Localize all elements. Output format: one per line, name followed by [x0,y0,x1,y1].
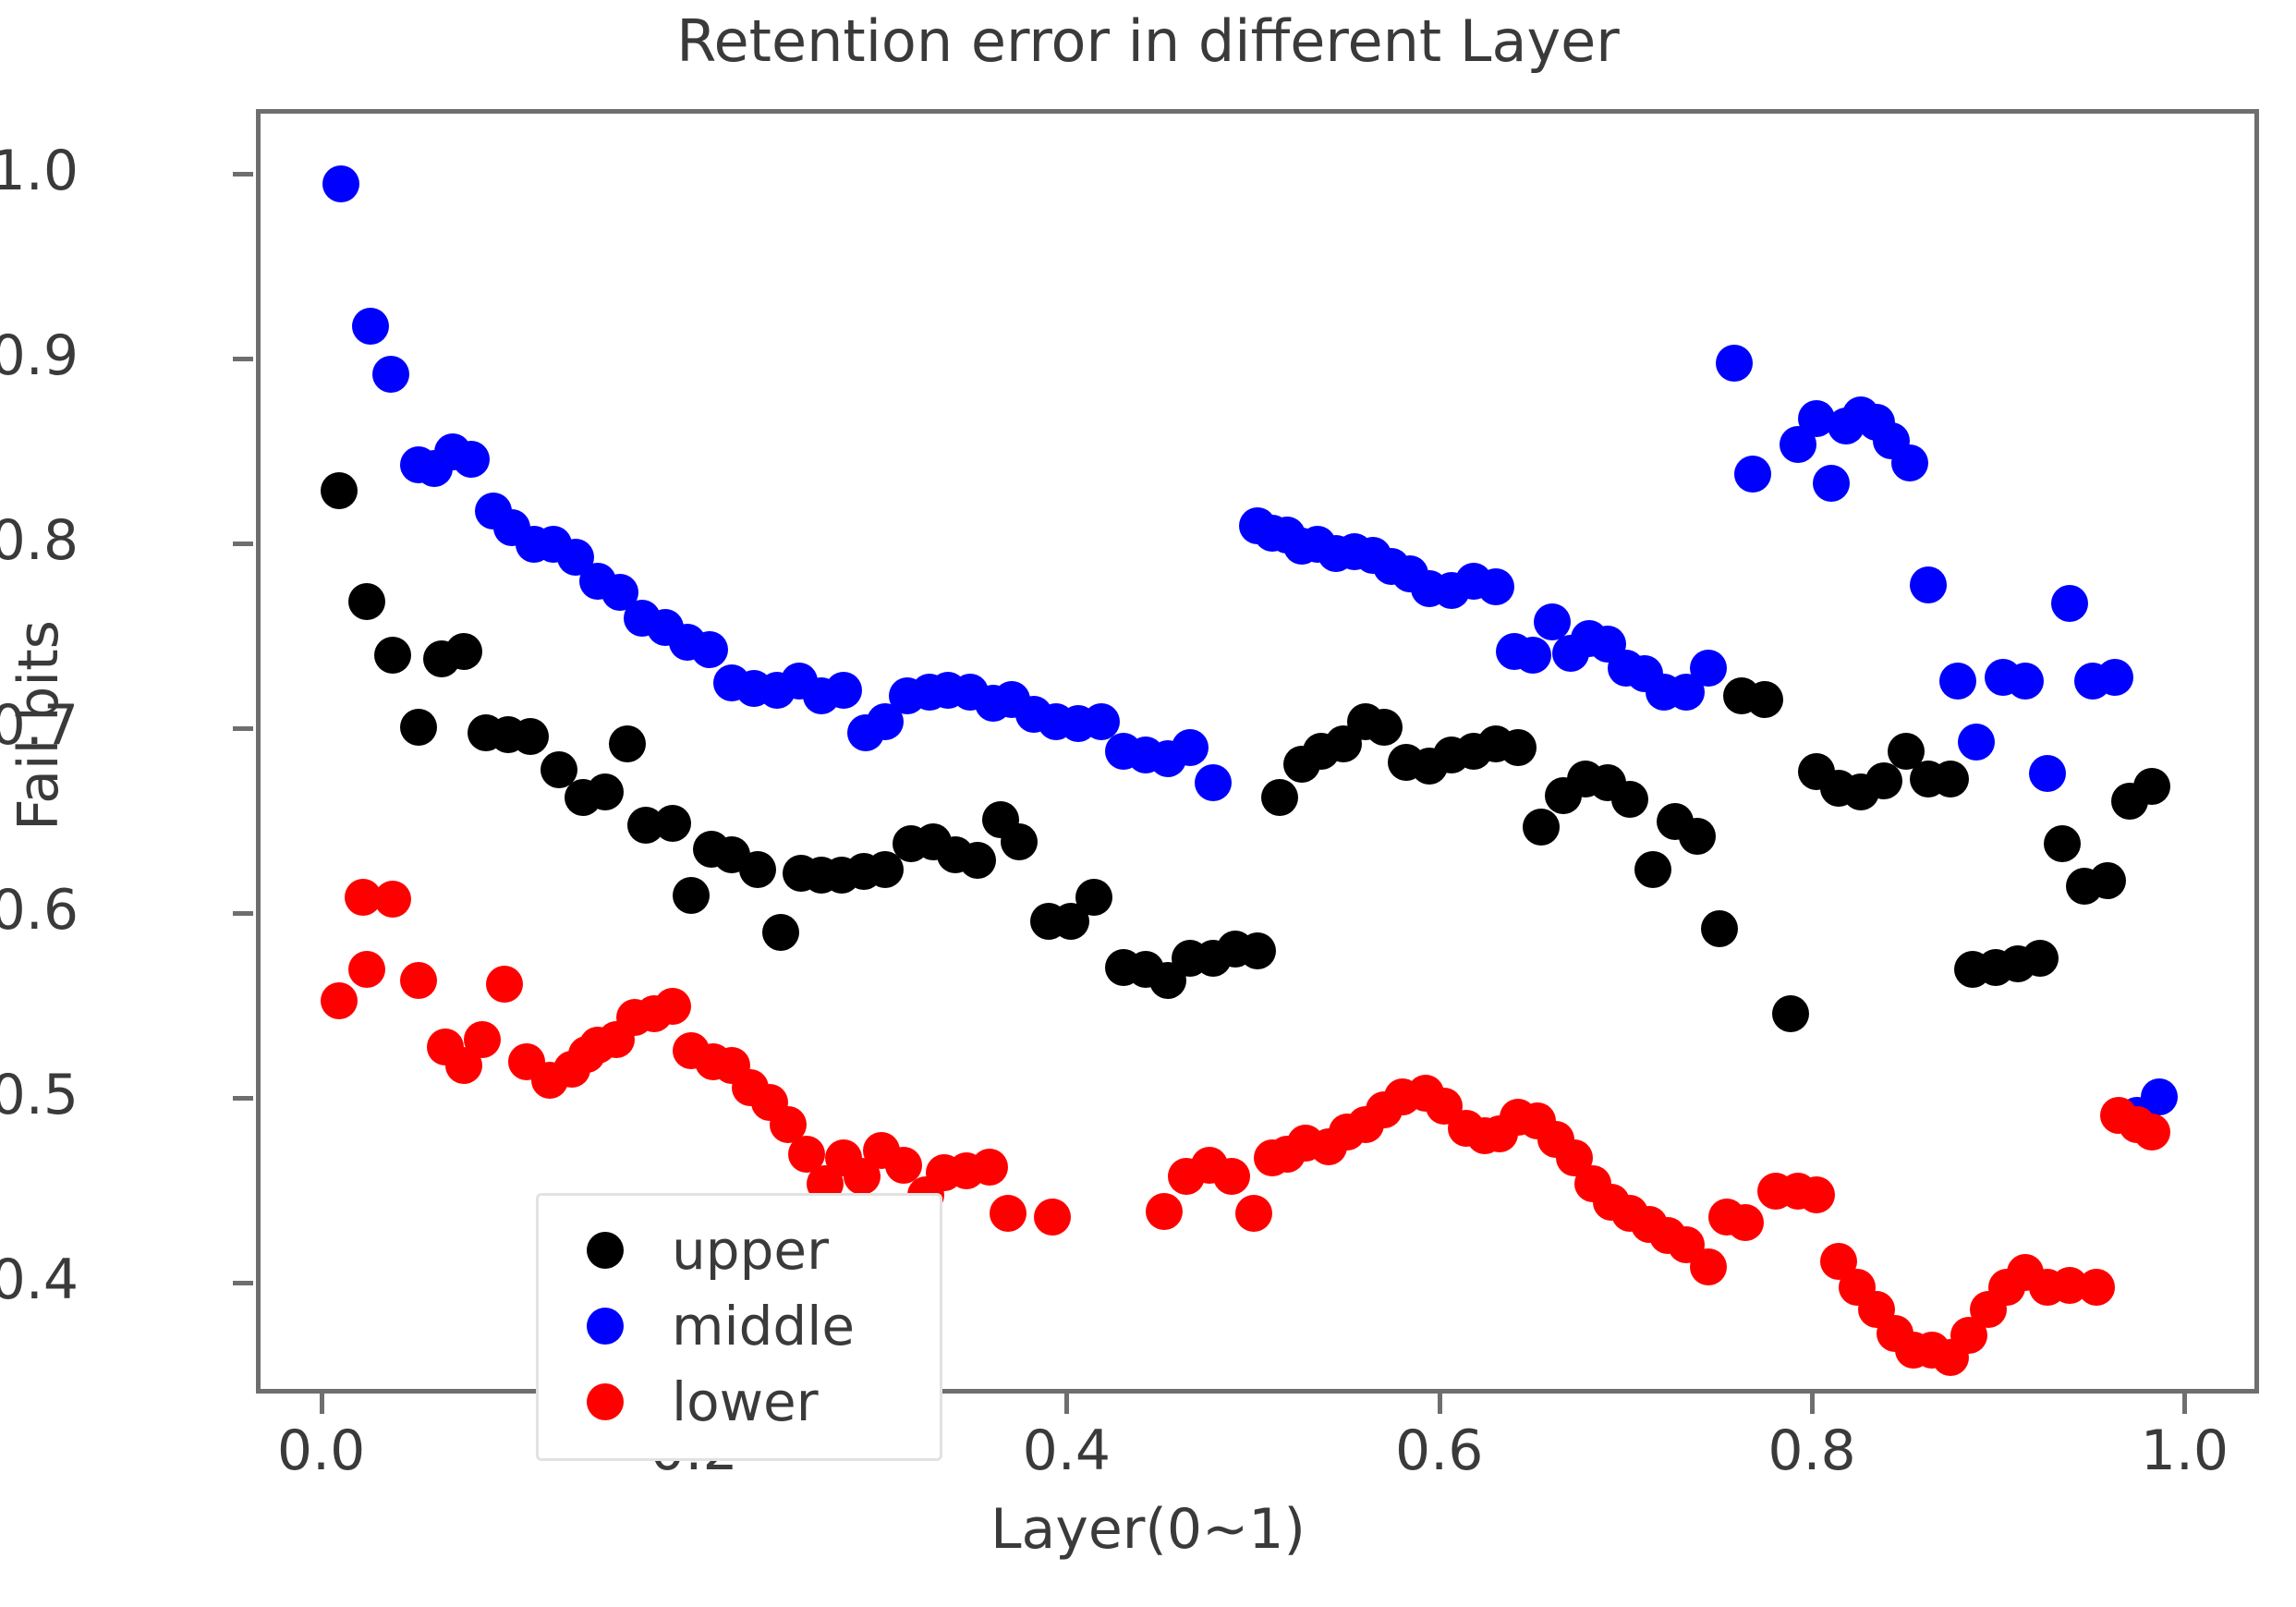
y-tick-label: 0.9 [0,323,79,388]
data-point-upper [1772,995,1809,1032]
data-point-lower [321,982,358,1019]
data-point-lower [1213,1158,1250,1195]
page-title: Retention error in different Layer [0,7,2296,75]
data-point-lower [400,962,437,999]
data-point-upper [1523,809,1560,846]
data-point-lower [1034,1199,1071,1236]
data-point-lower [1235,1195,1272,1232]
data-point-middle [1690,650,1727,687]
data-point-upper [654,805,691,842]
x-tick-mark [1064,1394,1069,1414]
y-tick-label: 0.7 [0,693,79,758]
legend-marker-middle [587,1308,624,1345]
legend-label-upper: upper [672,1219,829,1282]
data-point-upper [374,637,411,674]
data-point-upper [512,718,549,755]
y-tick-label: 1.0 [0,139,79,203]
legend-marker-lower [587,1383,624,1420]
data-point-upper [400,709,437,746]
data-point-upper [1634,851,1671,888]
data-point-middle [322,165,359,202]
x-tick-mark [320,1394,324,1414]
data-point-lower [1146,1193,1183,1230]
data-point-lower [654,988,691,1025]
data-point-lower [486,966,523,1003]
data-point-upper [1932,761,1969,797]
data-point-middle [2029,755,2066,792]
y-tick-mark [233,357,253,361]
data-point-upper [1075,879,1112,916]
x-tick-label: 1.0 [2073,1418,2295,1483]
data-point-lower [2133,1114,2170,1150]
data-point-lower [374,881,411,918]
data-point-middle [825,672,862,709]
data-point-upper [2089,862,2126,899]
data-point-middle [1891,444,1928,481]
data-point-middle [1172,729,1209,766]
y-tick-mark [233,542,253,546]
data-point-upper [1239,932,1276,969]
data-point-upper [587,773,624,810]
x-tick-label: 0.8 [1701,1418,1923,1483]
x-tick-label: 0.6 [1329,1418,1550,1483]
legend-marker-upper [587,1232,624,1269]
legend-item-upper[interactable]: upper [539,1212,940,1288]
data-point-upper [2044,825,2081,862]
y-tick-mark [233,911,253,916]
figure-canvas: Retention error in different Layer Fail … [0,0,2296,1607]
x-tick-label: 0.0 [211,1418,432,1483]
data-point-middle [352,308,389,345]
data-point-upper [1746,681,1783,718]
data-point-middle [1939,663,1976,700]
data-point-lower [990,1195,1027,1232]
data-point-lower [1690,1248,1727,1285]
legend-label-middle: middle [672,1295,855,1357]
x-tick-mark [2182,1394,2187,1414]
data-point-upper [2022,940,2059,977]
legend: upper middle lower [536,1193,942,1461]
y-tick-label: 0.4 [0,1248,79,1312]
data-point-upper [1500,729,1537,766]
data-point-middle [1958,724,1995,761]
y-tick-label: 0.5 [0,1063,79,1127]
data-point-upper [673,877,710,914]
data-point-upper [1366,709,1403,746]
data-point-middle [1477,568,1514,605]
data-point-upper [1261,779,1298,816]
data-point-upper [348,583,385,620]
data-point-middle [1514,637,1551,674]
data-point-middle [453,441,490,478]
y-tick-mark [233,1096,253,1101]
legend-item-lower[interactable]: lower [539,1364,940,1440]
data-point-upper [321,472,358,509]
data-point-upper [739,851,776,888]
data-point-upper [1865,762,1902,799]
data-point-middle [372,356,409,393]
data-point-upper [762,914,799,951]
data-point-middle [1716,345,1753,382]
data-point-lower [464,1021,501,1058]
x-tick-mark [1438,1394,1442,1414]
plot-frame: upper middle lower [256,109,2259,1394]
data-point-lower [1727,1204,1764,1241]
data-point-middle [2096,659,2133,696]
data-point-middle [2051,585,2088,622]
data-point-upper [959,842,996,879]
x-axis-label: Layer(0~1) [0,1497,2296,1562]
legend-label-lower: lower [672,1370,819,1433]
data-point-upper [1001,823,1038,860]
data-point-middle [1910,566,1947,603]
data-point-upper [1701,910,1738,947]
y-tick-label: 0.8 [0,508,79,573]
y-tick-mark [233,172,253,177]
y-tick-mark [233,1281,253,1285]
y-tick-label: 0.6 [0,878,79,943]
data-point-upper [1611,781,1648,818]
y-tick-mark [233,726,253,731]
data-point-lower [348,951,385,988]
data-point-upper [2133,768,2170,805]
data-point-middle [2007,663,2044,700]
x-tick-label: 0.4 [955,1418,1177,1483]
data-point-upper [609,725,646,762]
data-point-upper [1679,818,1716,855]
data-point-middle [1734,456,1771,493]
x-tick-mark [1810,1394,1815,1414]
data-point-lower [971,1149,1008,1186]
data-point-lower [2078,1269,2115,1306]
data-point-middle [1195,764,1232,801]
data-point-middle [1813,465,1850,502]
data-point-middle [691,631,728,668]
data-point-lower [1798,1176,1835,1213]
data-point-upper [445,633,482,670]
legend-item-middle[interactable]: middle [539,1288,940,1364]
